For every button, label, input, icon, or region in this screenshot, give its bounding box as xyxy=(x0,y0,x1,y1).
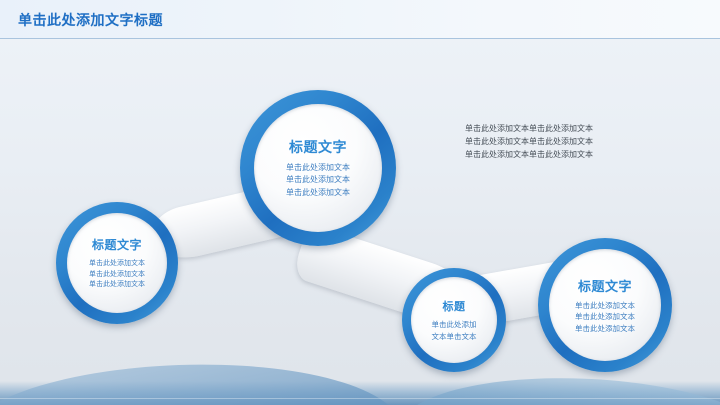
circle-node-bottom[interactable]: 标题 单击此处添加 文本单击文本 xyxy=(402,268,506,372)
circle-node-right-body: 单击此处添加文本 单击此处添加文本 单击此处添加文本 xyxy=(575,300,635,335)
circle-node-left[interactable]: 标题文字 单击此处添加文本 单击此处添加文本 单击此处添加文本 xyxy=(56,202,178,324)
circle-node-right-title: 标题文字 xyxy=(578,276,632,295)
circle-node-left-title: 标题文字 xyxy=(92,236,142,253)
circle-node-right-content: 标题文字 单击此处添加文本 单击此处添加文本 单击此处添加文本 xyxy=(549,249,661,361)
circle-node-left-body: 单击此处添加文本 单击此处添加文本 单击此处添加文本 xyxy=(89,258,145,291)
circle-node-bottom-content: 标题 单击此处添加 文本单击文本 xyxy=(411,277,497,363)
header-divider xyxy=(0,38,720,39)
circle-node-top-title: 标题文字 xyxy=(289,137,347,157)
circle-node-top-body: 单击此处添加文本 单击此处添加文本 单击此处添加文本 xyxy=(286,162,350,199)
circle-node-top-content: 标题文字 单击此处添加文本 单击此处添加文本 单击此处添加文本 xyxy=(254,104,382,232)
side-paragraph: 单击此处添加文本单击此处添加文本 单击此处添加文本单击此处添加文本 单击此处添加… xyxy=(465,122,665,162)
slide-canvas: 单击此处添加文字标题 标题文字 单击此处添加文本 单击此处添加文本 单击此处添加… xyxy=(0,0,720,405)
circle-node-bottom-title: 标题 xyxy=(443,298,466,314)
circle-node-left-content: 标题文字 单击此处添加文本 单击此处添加文本 单击此处添加文本 xyxy=(67,213,167,313)
footer-highlight-line xyxy=(0,398,720,399)
page-title: 单击此处添加文字标题 xyxy=(18,10,163,30)
circle-node-top[interactable]: 标题文字 单击此处添加文本 单击此处添加文本 单击此处添加文本 xyxy=(240,90,396,246)
circle-node-bottom-body: 单击此处添加 文本单击文本 xyxy=(432,319,477,342)
circle-node-right[interactable]: 标题文字 单击此处添加文本 单击此处添加文本 单击此处添加文本 xyxy=(538,238,672,372)
